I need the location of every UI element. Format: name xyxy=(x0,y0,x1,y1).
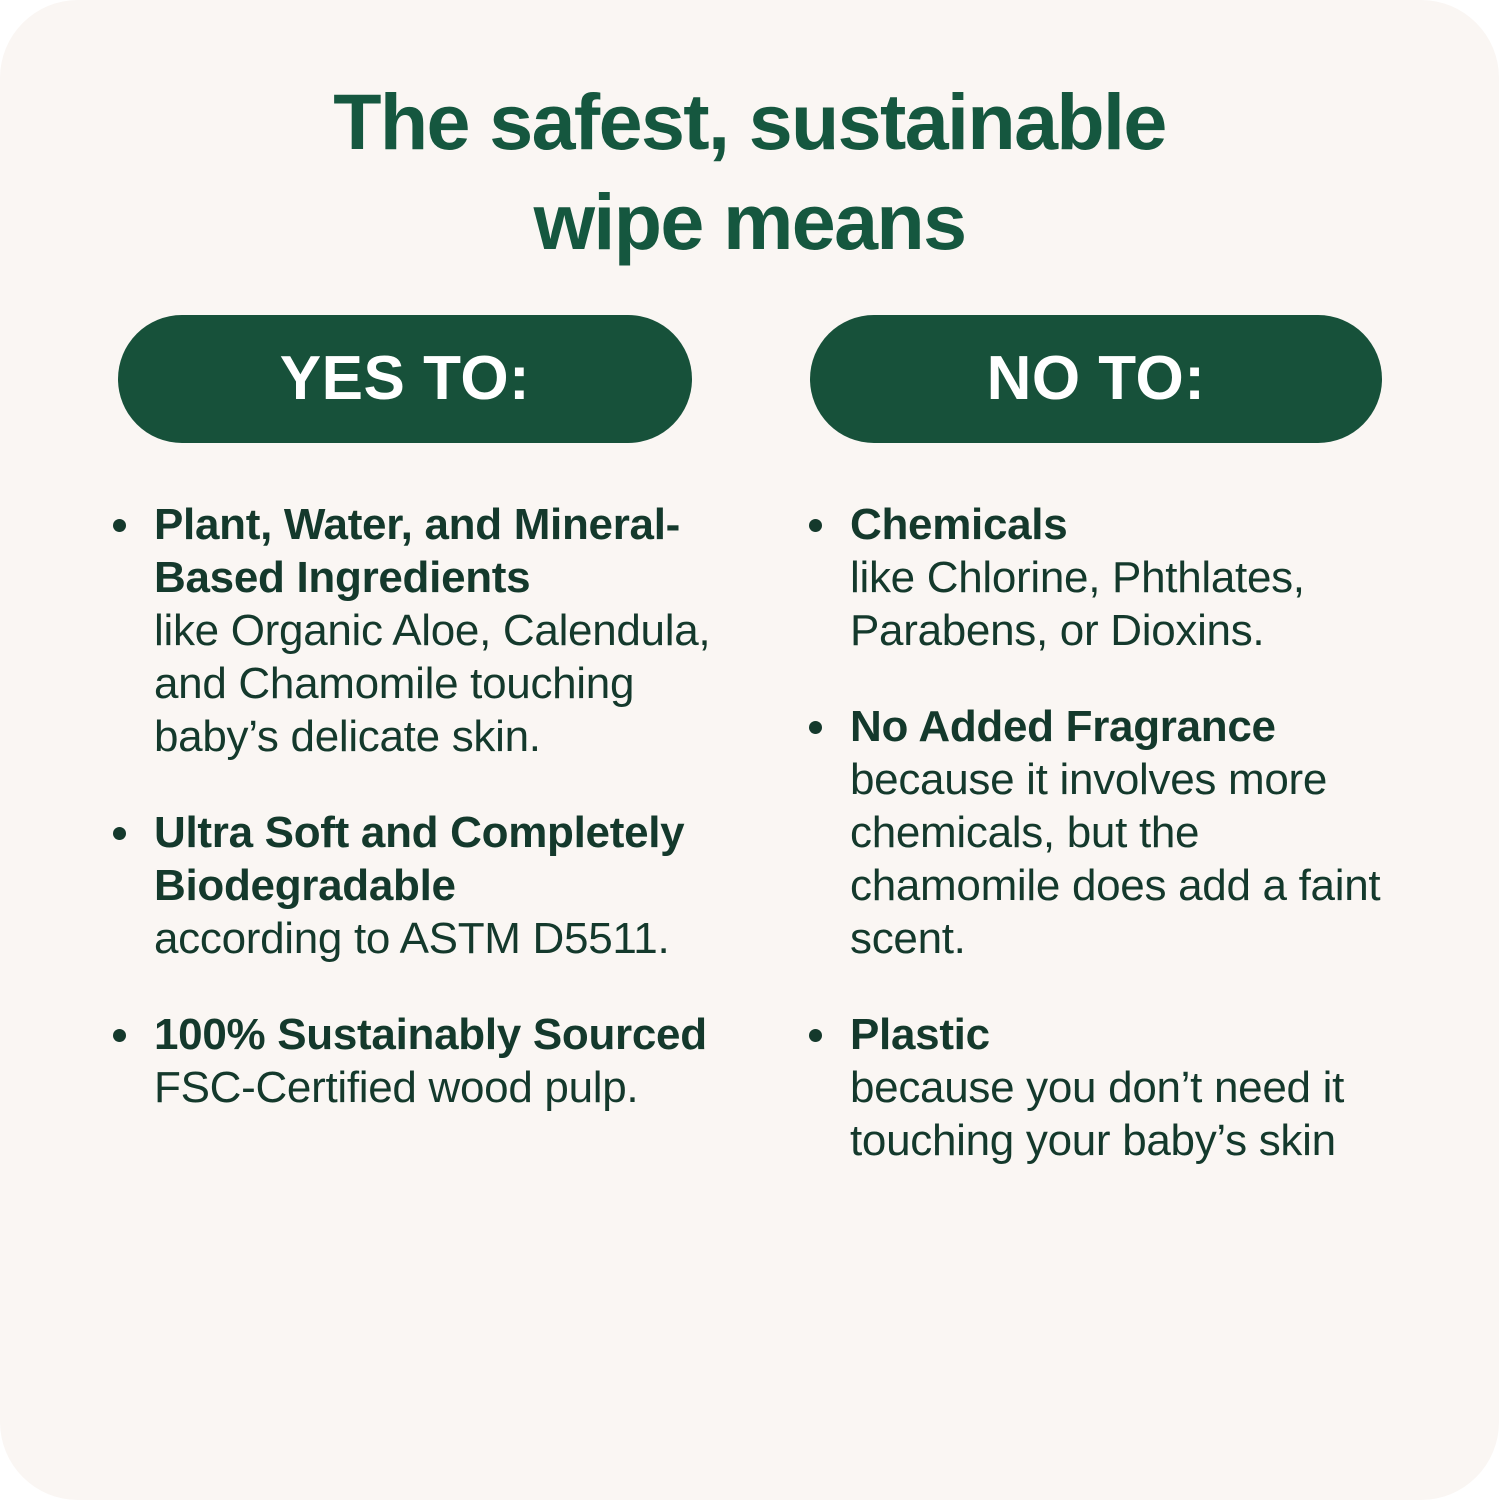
list-item: Ultra Soft and Completely Biodegradable … xyxy=(104,806,714,965)
bullet-dot-icon xyxy=(809,721,822,734)
list-item-lead: Plastic xyxy=(850,1010,990,1059)
list-item-body: according to ASTM D5511. xyxy=(154,914,669,963)
bullet-dot-icon xyxy=(113,519,126,532)
list-item: Plant, Water, and Mineral-Based Ingredie… xyxy=(104,498,714,763)
list-item: Chemicals like Chlorine, Phthlates, Para… xyxy=(800,498,1400,657)
promo-card: The safest, sustainable wipe means YES T… xyxy=(0,0,1499,1500)
list-item: No Added Fragrance because it involves m… xyxy=(800,700,1400,965)
list-item: Plastic because you don’t need it touchi… xyxy=(800,1008,1400,1167)
list-item-body: like Chlorine, Phthlates, Parabens, or D… xyxy=(850,553,1305,655)
list-item-body: because it involves more chemicals, but … xyxy=(850,755,1380,963)
list-item-body: because you don’t need it touching your … xyxy=(850,1063,1344,1165)
list-item-body: like Organic Aloe, Calendula, and Chamom… xyxy=(154,606,710,761)
yes-to-pill: YES TO: xyxy=(118,315,692,443)
list-item-lead: Plant, Water, and Mineral-Based Ingredie… xyxy=(154,500,680,602)
yes-to-pill-label: YES TO: xyxy=(280,348,530,410)
bullet-dot-icon xyxy=(809,519,822,532)
no-to-list: Chemicals like Chlorine, Phthlates, Para… xyxy=(800,498,1400,1167)
list-item: 100% Sustainably Sourced FSC-Certified w… xyxy=(104,1008,714,1114)
page-title-line-2: wipe means xyxy=(150,172,1349,272)
bullet-dot-icon xyxy=(809,1029,822,1042)
no-to-pill: NO TO: xyxy=(810,315,1382,443)
no-to-pill-label: NO TO: xyxy=(987,348,1206,410)
yes-to-list: Plant, Water, and Mineral-Based Ingredie… xyxy=(104,498,714,1114)
list-item-lead: Chemicals xyxy=(850,500,1067,549)
page-title-line-1: The safest, sustainable xyxy=(150,72,1349,172)
bullet-dot-icon xyxy=(113,827,126,840)
bullet-dot-icon xyxy=(113,1029,126,1042)
list-item-lead: 100% Sustainably Sourced xyxy=(154,1010,707,1059)
list-item-body: FSC-Certified wood pulp. xyxy=(154,1063,638,1112)
page-title: The safest, sustainable wipe means xyxy=(0,72,1499,271)
list-item-lead: Ultra Soft and Completely Biodegradable xyxy=(154,808,684,910)
list-item-lead: No Added Fragrance xyxy=(850,702,1276,751)
